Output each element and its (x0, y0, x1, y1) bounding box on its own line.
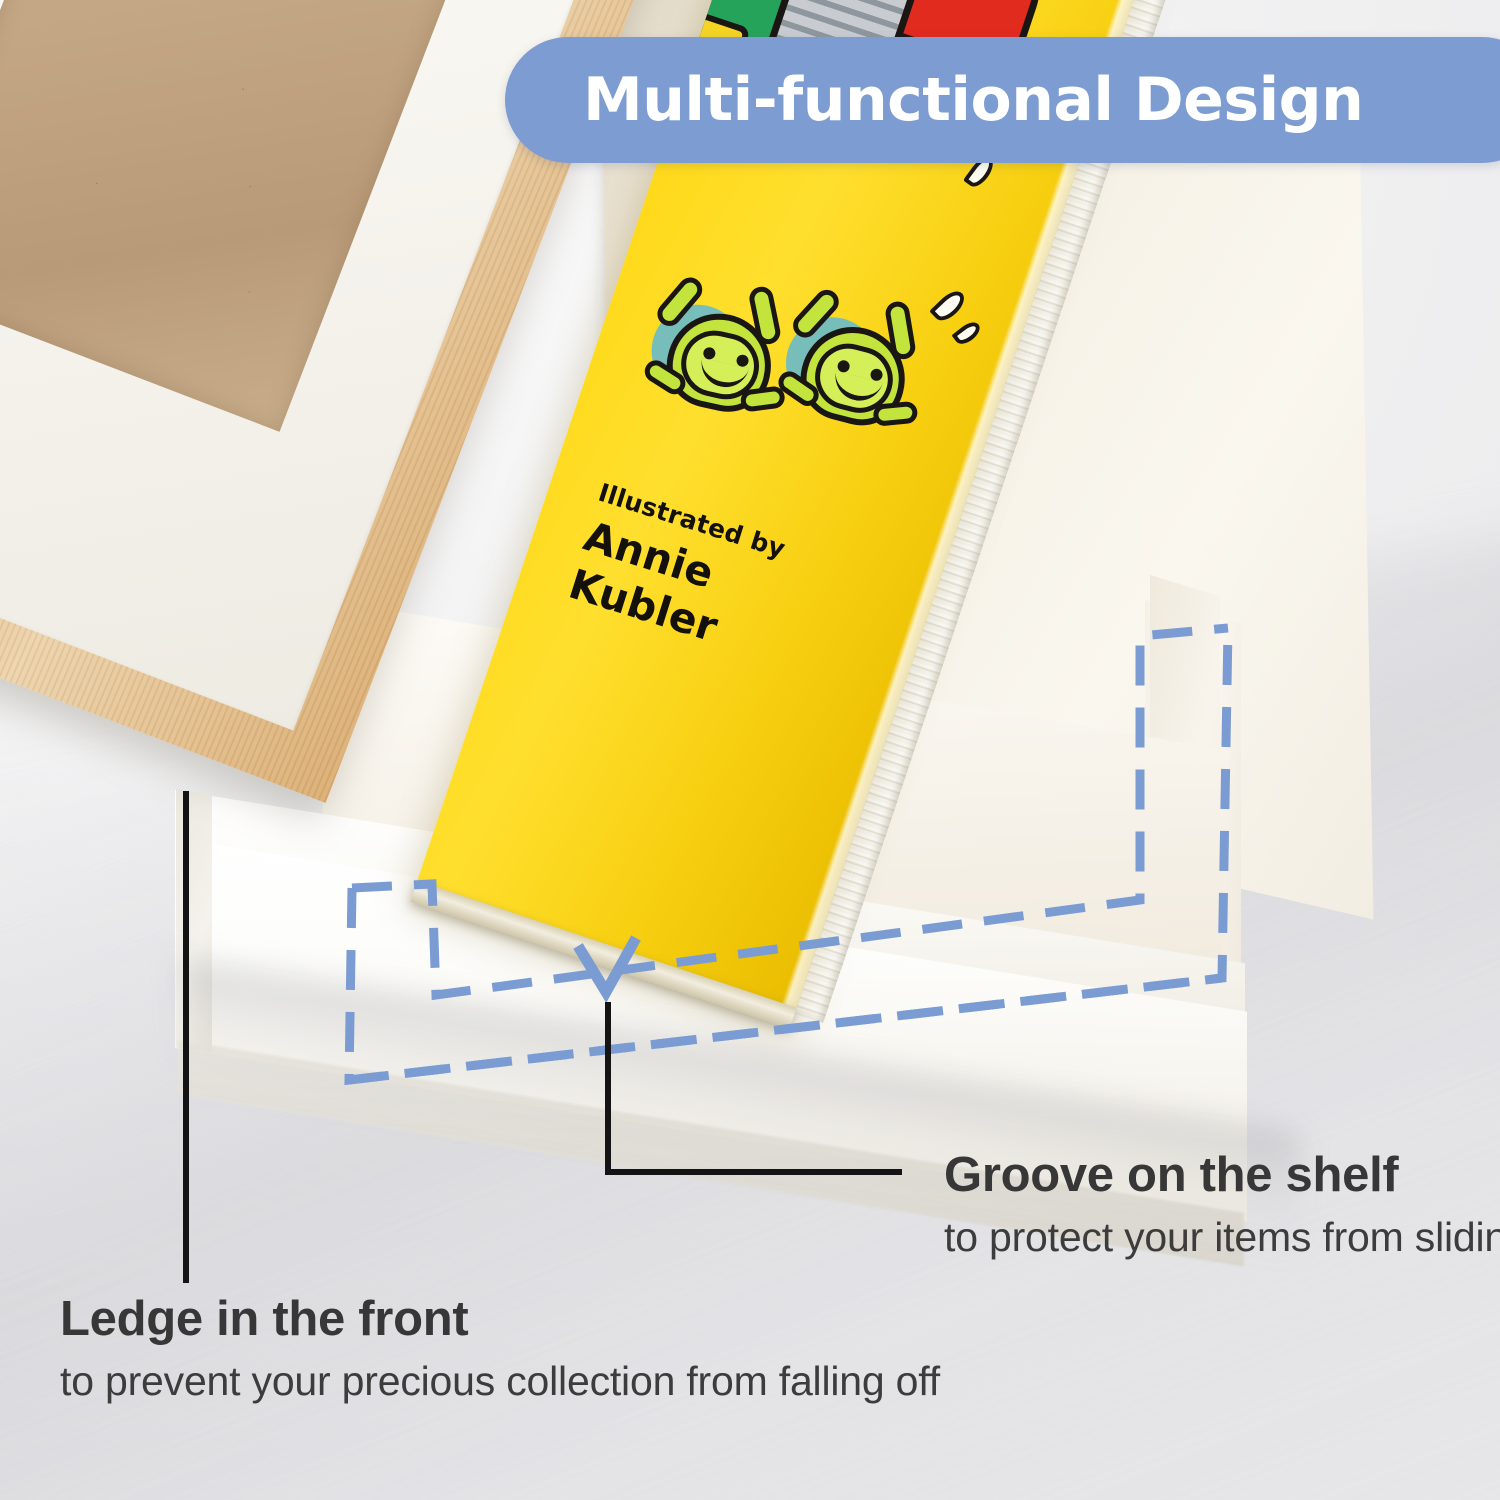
callout-ledge-subtitle: to prevent your precious collection from… (60, 1357, 940, 1406)
groove-highlight-outline (349, 628, 1228, 1080)
annotation-overlay (0, 0, 1500, 1500)
title-banner: Multi-functional Design (505, 37, 1500, 163)
banner-title: Multi-functional Design (583, 65, 1363, 135)
product-feature-image: Illustrated by Annie Kubler Multi-functi… (0, 0, 1500, 1500)
callout-ledge-title: Ledge in the front (60, 1292, 940, 1347)
groove-leader-line (608, 1002, 902, 1172)
callout-groove-title: Groove on the shelf (944, 1148, 1500, 1203)
callout-ledge: Ledge in the front to prevent your preci… (60, 1292, 940, 1406)
callout-groove-subtitle: to protect your items from sliding forwa… (944, 1213, 1500, 1262)
callout-groove: Groove on the shelf to protect your item… (944, 1148, 1500, 1262)
